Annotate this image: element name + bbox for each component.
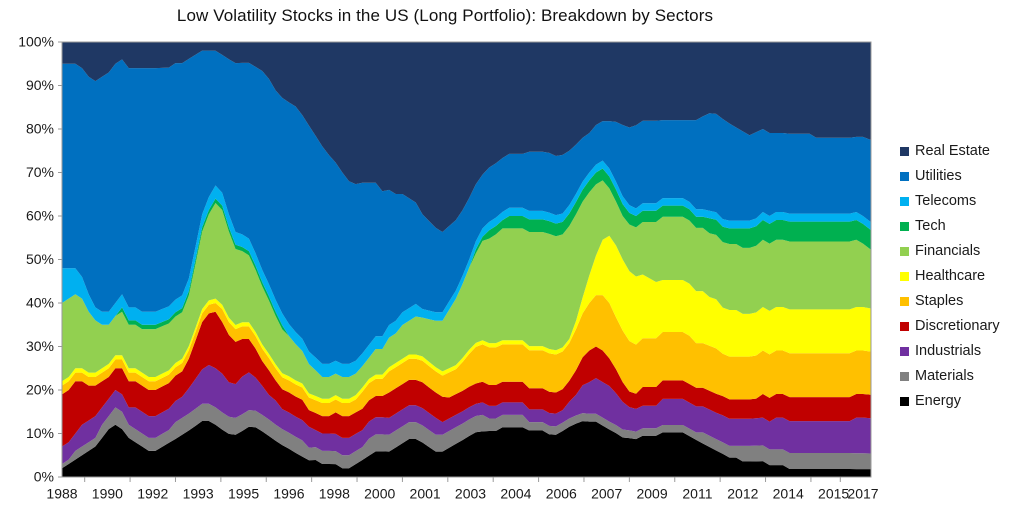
legend-item[interactable]: Energy (900, 389, 1024, 414)
legend-item-label: Industrials (915, 344, 981, 359)
x-axis-tick-labels: 1988199019921993199519961998200020012003… (46, 477, 878, 501)
legend-item-label: Utilities (915, 169, 962, 184)
legend-item-label: Materials (915, 369, 974, 384)
legend-item[interactable]: Industrials (900, 339, 1024, 364)
x-tick-label: 2000 (364, 485, 395, 501)
area-series-group (62, 42, 871, 477)
legend-item-label: Financials (915, 244, 980, 259)
legend-item[interactable]: Discretionary (900, 314, 1024, 339)
legend-swatch-icon (900, 272, 909, 281)
x-tick-label: 1996 (273, 485, 304, 501)
legend-item-label: Tech (915, 219, 946, 234)
chart-legend: Real EstateUtilitiesTelecomsTechFinancia… (900, 139, 1024, 414)
legend-swatch-icon (900, 347, 909, 356)
y-tick-label: 0% (34, 469, 54, 485)
legend-swatch-icon (900, 222, 909, 231)
legend-swatch-icon (900, 322, 909, 331)
x-tick-label: 2011 (682, 485, 712, 501)
x-tick-label: 2014 (773, 485, 804, 501)
legend-item[interactable]: Financials (900, 239, 1024, 264)
legend-swatch-icon (900, 297, 909, 306)
legend-item[interactable]: Staples (900, 289, 1024, 314)
legend-swatch-icon (900, 397, 909, 406)
x-tick-label: 2007 (591, 485, 622, 501)
x-tick-label: 2004 (500, 485, 531, 501)
x-tick-label: 1998 (319, 485, 350, 501)
y-tick-label: 50% (26, 251, 54, 267)
x-tick-label: 1988 (46, 485, 77, 501)
y-tick-label: 70% (26, 164, 54, 180)
x-tick-label: 1995 (228, 485, 259, 501)
legend-swatch-icon (900, 247, 909, 256)
x-tick-label: 2001 (410, 485, 441, 501)
y-axis-tick-labels: 0%10%20%30%40%50%60%70%80%90%100% (18, 34, 62, 485)
legend-item-label: Discretionary (915, 319, 1000, 334)
legend-item-label: Staples (915, 294, 963, 309)
legend-swatch-icon (900, 197, 909, 206)
chart-root: Low Volatility Stocks in the US (Long Po… (0, 0, 1024, 512)
x-tick-label: 1993 (183, 485, 214, 501)
legend-swatch-icon (900, 147, 909, 156)
plot-area-wrapper: 0%10%20%30%40%50%60%70%80%90%100% 198819… (0, 0, 1024, 512)
y-tick-label: 90% (26, 77, 54, 93)
x-tick-label: 2015 (818, 485, 849, 501)
y-tick-label: 30% (26, 338, 54, 354)
x-tick-label: 2017 (847, 485, 878, 501)
y-tick-label: 10% (26, 425, 54, 441)
y-tick-label: 100% (18, 34, 54, 50)
stacked-area-chart: 0%10%20%30%40%50%60%70%80%90%100% 198819… (0, 0, 1024, 512)
legend-item[interactable]: Real Estate (900, 139, 1024, 164)
x-tick-label: 1990 (92, 485, 123, 501)
legend-item[interactable]: Healthcare (900, 264, 1024, 289)
y-tick-label: 80% (26, 121, 54, 137)
x-tick-label: 1992 (137, 485, 168, 501)
legend-item-label: Healthcare (915, 269, 985, 284)
x-tick-label: 2009 (636, 485, 667, 501)
y-tick-label: 60% (26, 208, 54, 224)
legend-item-label: Real Estate (915, 144, 990, 159)
legend-swatch-icon (900, 372, 909, 381)
legend-item[interactable]: Utilities (900, 164, 1024, 189)
legend-item[interactable]: Telecoms (900, 189, 1024, 214)
legend-item-label: Telecoms (915, 194, 976, 209)
legend-swatch-icon (900, 172, 909, 181)
legend-item[interactable]: Tech (900, 214, 1024, 239)
x-tick-label: 2012 (727, 485, 758, 501)
legend-item-label: Energy (915, 394, 961, 409)
legend-item[interactable]: Materials (900, 364, 1024, 389)
y-tick-label: 20% (26, 382, 54, 398)
x-tick-label: 2003 (455, 485, 486, 501)
y-tick-label: 40% (26, 295, 54, 311)
x-tick-label: 2006 (546, 485, 577, 501)
